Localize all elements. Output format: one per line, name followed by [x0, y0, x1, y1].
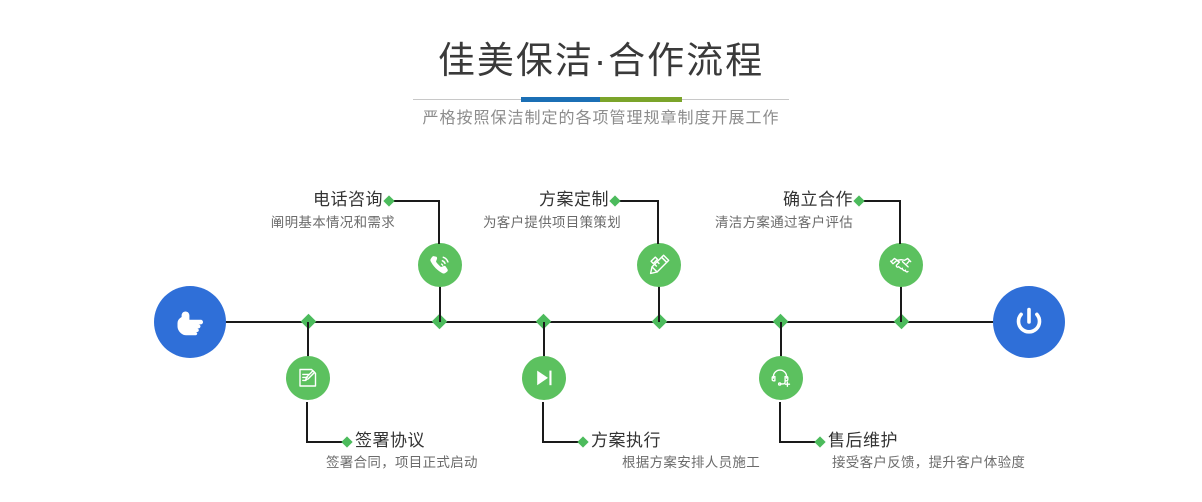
- document-pen-icon: [295, 365, 321, 391]
- label-elbow-h-above-3: [862, 200, 900, 202]
- flow-diagram-page: 佳美保洁·合作流程 严格按照保洁制定的各项管理规章制度开展工作: [0, 0, 1202, 502]
- play-next-icon: [531, 365, 557, 391]
- label-elbow-h-above-2: [618, 200, 658, 202]
- branch-stem-below-2: [543, 322, 545, 358]
- timeline-spine: [222, 321, 997, 323]
- step-desc-above-2: 为客户提供项目策策划: [381, 213, 621, 233]
- power-button-icon: [1009, 302, 1049, 342]
- label-elbow-v-below-3: [779, 402, 781, 442]
- label-elbow-v-below-1: [306, 402, 308, 442]
- label-elbow-v-below-2: [542, 402, 544, 442]
- branch-stem-below-3: [780, 322, 782, 358]
- divider-segment-blue: [521, 97, 600, 102]
- step-title-above-1: 电话咨询: [195, 189, 383, 211]
- step-desc-below-1: 签署合同，项目正式启动: [326, 453, 586, 473]
- step-node-phone-consultation[interactable]: [418, 243, 462, 287]
- timeline-start-endpoint: [154, 286, 226, 358]
- step-title-above-3: 确立合作: [665, 189, 853, 211]
- branch-stem-below-1: [307, 322, 309, 358]
- label-tip-above-1: [383, 195, 394, 206]
- step-node-plan-customization[interactable]: [637, 243, 681, 287]
- page-title: 佳美保洁·合作流程: [0, 38, 1202, 84]
- label-elbow-h-below-1: [306, 441, 346, 443]
- label-tip-above-2: [609, 195, 620, 206]
- step-title-below-3: 售后维护: [828, 430, 1088, 452]
- step-title-above-2: 方案定制: [421, 189, 609, 211]
- label-elbow-h-below-3: [779, 441, 819, 443]
- step-node-sign-agreement[interactable]: [286, 356, 330, 400]
- headset-add-icon: [768, 365, 794, 391]
- divider-segment-green: [600, 97, 682, 102]
- label-elbow-h-below-2: [542, 441, 582, 443]
- title-divider: [413, 97, 789, 102]
- step-node-after-sales[interactable]: [759, 356, 803, 400]
- handshake-icon: [888, 252, 914, 278]
- step-desc-below-3: 接受客户反馈，提升客户体验度: [832, 453, 1132, 473]
- label-tip-below-1: [341, 436, 352, 447]
- step-desc-above-3: 清洁方案通过客户评估: [613, 213, 853, 233]
- step-node-plan-execution[interactable]: [522, 356, 566, 400]
- pencil-ruler-icon: [646, 252, 672, 278]
- step-node-establish-cooperation[interactable]: [879, 243, 923, 287]
- page-subtitle: 严格按照保洁制定的各项管理规章制度开展工作: [0, 107, 1202, 131]
- label-elbow-v-above-3: [899, 200, 901, 244]
- timeline-end-endpoint: [993, 286, 1065, 358]
- pointing-hand-icon: [170, 302, 210, 342]
- phone-call-icon: [427, 252, 453, 278]
- step-desc-above-1: 阐明基本情况和需求: [155, 213, 395, 233]
- label-tip-above-3: [853, 195, 864, 206]
